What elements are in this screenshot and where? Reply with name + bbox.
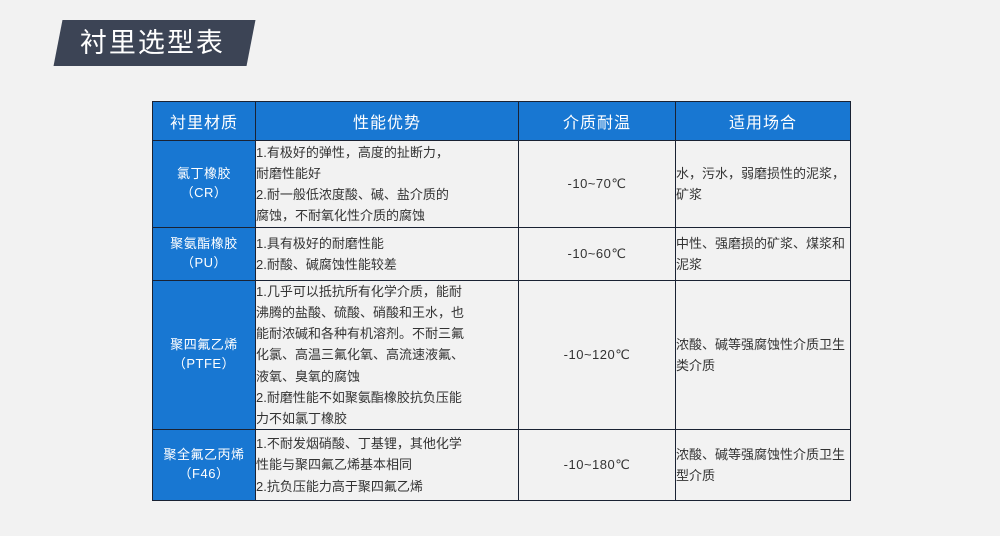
table-row: 聚四氟乙烯（PTFE）1.几乎可以抵抗所有化学介质，能耐沸腾的盐酸、硫酸、硝酸和… [153,281,851,430]
performance-line: 2.耐酸、碱腐蚀性能较差 [256,254,518,275]
performance-line: 耐磨性能好 [256,163,518,184]
performance-line: 1.几乎可以抵抗所有化学介质，能耐 [256,281,518,302]
cell-temperature: -10~180℃ [519,430,676,501]
cell-temperature: -10~70℃ [519,141,676,228]
column-header-material: 衬里材质 [153,102,256,141]
application-line: 浓酸、碱等强腐蚀性介质 [676,447,819,462]
application-line: 水，污水，弱磨损性的泥 [676,166,819,181]
page-title: 衬里选型表 [80,30,225,57]
table-row: 聚全氟乙丙烯（F46）1.不耐发烟硝酸、丁基锂，其他化学性能与聚四氟乙烯基本相同… [153,430,851,501]
table-body: 氯丁橡胶（CR）1.有极好的弹性，高度的扯断力，耐磨性能好2.耐一般低浓度酸、碱… [153,141,851,501]
performance-line: 2.耐一般低浓度酸、碱、盐介质的 [256,184,518,205]
performance-line: 1.有极好的弹性，高度的扯断力， [256,142,518,163]
performance-line: 2.抗负压能力高于聚四氟乙烯 [256,476,518,497]
material-abbreviation: （PU） [153,254,255,273]
column-header-performance: 性能优势 [256,102,519,141]
cell-material: 聚氨酯橡胶（PU） [153,228,256,281]
performance-line: 1.具有极好的耐磨性能 [256,233,518,254]
cell-application: 浓酸、碱等强腐蚀性介质卫生类介质 [676,281,851,430]
material-name: 聚全氟乙丙烯 [153,446,255,465]
cell-application: 水，污水，弱磨损性的泥浆，矿浆 [676,141,851,228]
material-name: 氯丁橡胶 [153,165,255,184]
material-abbreviation: （F46） [153,465,255,484]
performance-line: 液氧、臭氧的腐蚀 [256,366,518,387]
performance-line: 2.耐磨性能不如聚氨酯橡胶抗负压能 [256,387,518,408]
material-name: 聚四氟乙烯 [153,336,255,355]
table-row: 聚氨酯橡胶（PU）1.具有极好的耐磨性能2.耐酸、碱腐蚀性能较差-10~60℃中… [153,228,851,281]
performance-line: 能耐浓碱和各种有机溶剂。不耐三氟 [256,323,518,344]
cell-material: 氯丁橡胶（CR） [153,141,256,228]
application-line: 中性、强磨损的矿浆、煤 [676,236,819,251]
application-line: 浓酸、碱等强腐蚀性介质 [676,337,819,352]
table-header: 衬里材质 性能优势 介质耐温 适用场合 [153,102,851,141]
cell-performance: 1.具有极好的耐磨性能2.耐酸、碱腐蚀性能较差 [256,228,519,281]
performance-line: 化氯、高温三氟化氧、高流速液氟、 [256,344,518,365]
cell-application: 浓酸、碱等强腐蚀性介质卫生型介质 [676,430,851,501]
performance-line: 1.不耐发烟硝酸、丁基锂，其他化学 [256,433,518,454]
page-title-banner: 衬里选型表 [54,20,256,66]
performance-line: 沸腾的盐酸、硫酸、硝酸和王水，也 [256,302,518,323]
material-name: 聚氨酯橡胶 [153,235,255,254]
cell-temperature: -10~60℃ [519,228,676,281]
column-header-application: 适用场合 [676,102,851,141]
cell-performance: 1.不耐发烟硝酸、丁基锂，其他化学性能与聚四氟乙烯基本相同2.抗负压能力高于聚四… [256,430,519,501]
cell-application: 中性、强磨损的矿浆、煤浆和泥浆 [676,228,851,281]
lining-selection-table: 衬里材质 性能优势 介质耐温 适用场合 氯丁橡胶（CR）1.有极好的弹性，高度的… [152,101,851,501]
cell-performance: 1.有极好的弹性，高度的扯断力，耐磨性能好2.耐一般低浓度酸、碱、盐介质的腐蚀，… [256,141,519,228]
performance-line: 性能与聚四氟乙烯基本相同 [256,454,518,475]
material-abbreviation: （CR） [153,184,255,203]
material-abbreviation: （PTFE） [153,355,255,374]
table-row: 氯丁橡胶（CR）1.有极好的弹性，高度的扯断力，耐磨性能好2.耐一般低浓度酸、碱… [153,141,851,228]
cell-material: 聚全氟乙丙烯（F46） [153,430,256,501]
cell-material: 聚四氟乙烯（PTFE） [153,281,256,430]
cell-temperature: -10~120℃ [519,281,676,430]
performance-line: 腐蚀，不耐氧化性介质的腐蚀 [256,205,518,226]
performance-line: 力不如氯丁橡胶 [256,408,518,429]
table-header-row: 衬里材质 性能优势 介质耐温 适用场合 [153,102,851,141]
cell-performance: 1.几乎可以抵抗所有化学介质，能耐沸腾的盐酸、硫酸、硝酸和王水，也能耐浓碱和各种… [256,281,519,430]
column-header-temperature: 介质耐温 [519,102,676,141]
